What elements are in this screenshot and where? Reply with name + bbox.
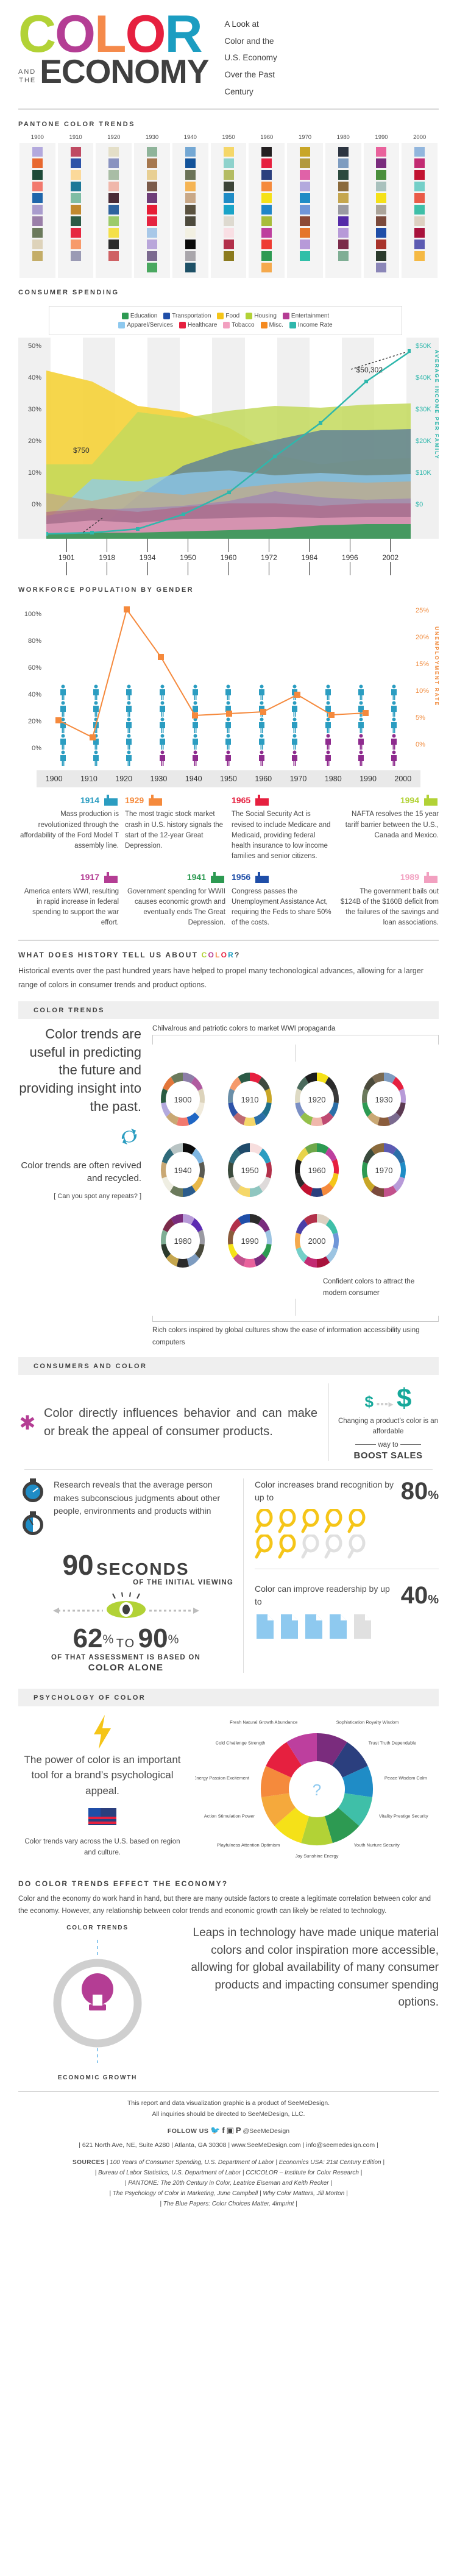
pantone-swatch [71,193,81,203]
color-wheel-grid: 1900 1910 1920 1930 1940 1950 1960 1970 … [152,1066,439,1274]
pantone-swatch [300,147,310,157]
pantone-column-1970 [287,143,323,278]
event-head: 1914 [18,793,119,807]
pantone-swatch [185,263,196,272]
effect-label-top: COLOR TRENDS [18,1925,177,1931]
consumers-top: Color directly influences behavior and c… [18,1383,439,1461]
pantone-swatch [376,251,386,261]
and-the-label: AND THE [18,68,40,88]
pantone-swatch [414,193,425,203]
pantone-swatch [71,240,81,249]
color-wheel-label: 1910 [233,1081,267,1118]
color-wheel-1990: 1990 [219,1208,280,1274]
logo-letter-2: L [94,11,126,58]
event-head: 1989 [338,871,439,884]
stat-initial-viewing: OF THE INITIAL VIEWING [18,1579,233,1586]
pantone-swatch [32,182,43,191]
event-head: 1929 [125,793,225,807]
pantone-swatch [108,147,119,157]
pantone-swatch [71,182,81,191]
pantone-swatch [71,147,81,157]
source-line-2: | PANTONE: The 20th Century in Color, Le… [24,2178,433,2188]
legend-label: Housing [254,313,277,319]
pantone-swatch [32,147,43,157]
bus-icon [163,313,170,319]
workforce-section: WORKFORCE POPULATION BY GENDER 100%80%60… [0,575,457,787]
color-wheel-label: 1960 [300,1152,334,1188]
wf-y-tick-right: 15% [416,661,429,668]
pantone-year-2000: 2000 [400,134,439,143]
event-card: 1956 Congress passes the Unemployment As… [232,871,332,929]
hanger-icon [118,322,125,328]
pantone-swatch [224,158,234,168]
pantone-swatch [376,182,386,191]
color-wheel-1930: 1930 [353,1066,414,1132]
spending-year-1996: 1996 [330,553,370,562]
color-trends-subline: Color trends are often revived and recyc… [18,1159,141,1186]
pantone-swatch [224,251,234,261]
brand-readership-block: Color increases brand recognition by up … [244,1478,439,1673]
consumers-band: CONSUMERS AND COLOR [18,1357,439,1375]
y-tick-left: 10% [28,469,41,477]
psychology-band: PSYCHOLOGY OF COLOR [18,1689,439,1706]
wf-y-tick-right: 25% [416,607,429,614]
pantone-year-1990: 1990 [363,134,401,143]
pantone-swatch [338,158,349,168]
event-year: 1917 [80,871,99,884]
color-wheel-1910: 1910 [219,1066,280,1132]
wf-y-tick-right: 10% [416,687,429,695]
pantone-swatch [376,263,386,272]
tick [289,562,330,575]
tick [168,539,208,552]
pantone-swatch [71,228,81,238]
wf-y-tick-right: 5% [416,714,425,722]
pantone-swatch [338,251,349,261]
logo-letter-0: C [18,11,55,58]
events-row-2: 1917 America enters WWI, resulting in ra… [18,871,439,929]
pantone-swatch [32,216,43,226]
pantone-swatch [338,216,349,226]
speech-bubbles-icon [423,793,439,807]
workforce-decade-2000: 2000 [386,775,420,783]
event-card: 1989 The government bails out $124B of t… [338,871,439,929]
pantone-swatch [71,158,81,168]
subtitle-line-4: Century [224,83,439,101]
wf-y-tick-right: 20% [416,634,429,641]
wf-y-tick-left: 20% [28,718,41,725]
the-label: THE [18,77,36,85]
stat-90: 90 [62,1549,93,1581]
color-wheel-label: 1950 [233,1152,267,1188]
pantone-swatch [300,240,310,249]
legend-label: Healthcare [188,322,217,328]
pinterest-icon[interactable]: P [236,2126,241,2135]
pantone-swatch [32,158,43,168]
pantone-year-1910: 1910 [57,134,95,143]
pantone-swatch [147,193,157,203]
pantone-swatch [300,170,310,180]
legend-item: Income Rate [289,322,333,328]
stopwatch-icons [18,1478,48,1549]
color-trends-title: COLOR TRENDS [34,1001,439,1019]
boost-sub: Changing a product’s color is an afforda… [338,1416,439,1438]
pantone-swatch [32,193,43,203]
event-year: 1989 [400,871,419,884]
event-head: 1956 [232,871,332,884]
pantone-swatch [224,193,234,203]
event-head: 1965 [232,793,332,807]
psychology-title: PSYCHOLOGY OF COLOR [34,1689,439,1706]
event-text: America enters WWI, resulting in rapid i… [18,887,119,929]
pantone-swatch [71,251,81,261]
pantone-swatch [32,170,43,180]
legend-item: Misc. [261,322,283,328]
wf-y-tick-right: 0% [416,741,425,748]
pantone-swatch [224,170,234,180]
magnifier-icon [324,1535,345,1559]
pantone-swatch [376,147,386,157]
read-pct: 40% [401,1583,439,1608]
pantone-swatch [261,205,272,215]
spending-year-1934: 1934 [127,553,168,562]
event-card: 1929 The most tragic stock market crash … [125,793,225,862]
pantone-column-1920 [96,143,132,278]
source-line-0: | 100 Years of Consumer Spending, U.S. D… [107,2159,384,2166]
pantone-swatch [300,158,310,168]
pantone-swatch [376,216,386,226]
logo-letter-1: O [55,11,94,58]
subtitle-line-3: Over the Past [224,66,439,83]
tick [370,562,411,575]
dollar-growth-icon: $ ▪▪▪▸ $ [338,1383,439,1414]
income-2002-annotation: $50,302 [356,366,383,374]
pantone-swatch [338,182,349,191]
wf-y-tick-left: 0% [32,745,41,752]
psychology-label-0: Sophistication Royalty Wisdom [336,1719,399,1725]
eye-icon [47,1592,205,1619]
color-trends-left: Color trends are useful in predicting th… [18,1025,152,1349]
workforce-chart: 100%80%60%40%20%0% 25%20%15%10%5%0% UNEM… [18,602,439,767]
pantone-swatch [71,216,81,226]
pantone-swatch [108,158,119,168]
pantone-column-1980 [325,143,361,278]
piggy-bank-icon [423,871,439,884]
consumers-title: CONSUMERS AND COLOR [34,1357,439,1375]
color-trends-right: Chilvalrous and patriotic colors to mark… [152,1025,439,1349]
pantone-swatch [300,251,310,261]
color-wheel-label: 1990 [233,1222,267,1259]
legend-item: Entertainment [283,313,329,319]
stat-assessment: OF THAT ASSESSMENT IS BASED ON [18,1654,233,1661]
event-head: 1941 [125,871,225,884]
stat-62: 62 [73,1623,103,1653]
tick [330,539,370,552]
legend-label: Education [130,313,157,319]
spending-area-chart: 50%40%30%20%10%0% $50K$40K$30K$20K$10K$0… [18,338,439,539]
psychology-color-wheel: ? Sophistication Royalty WisdomTrust Tru… [195,1715,439,1867]
pantone-swatch [414,228,425,238]
effect-section: DO COLOR TRENDS EFFECT THE ECONOMY? Colo… [0,1879,457,2081]
pantone-year-1980: 1980 [324,134,363,143]
workforce-decade-labels: 1900191019201930194019501960197019801990… [37,770,420,787]
history-section: WHAT DOES HISTORY TELL US ABOUT COLOR? H… [0,951,457,993]
magnifier-icon [255,1535,275,1559]
pantone-swatch [300,205,310,215]
pantone-year-1900: 1900 [18,134,57,143]
pantone-section: PANTONE COLOR TRENDS 1900191019201930194… [0,110,457,278]
pantone-swatch [108,182,119,191]
document-icon [303,1613,324,1640]
pantone-swatch [338,205,349,215]
pantone-column-1930 [134,143,170,278]
subtitle-line-1: Color and the [224,33,439,50]
tick [46,539,87,552]
pantone-swatch [414,240,425,249]
history-body: Historical events over the past hundred … [18,964,439,993]
magnifier-icon [347,1509,368,1533]
event-card: 1941 Government spending for WWII causes… [125,871,225,929]
consumers-quote: Color directly influences behavior and c… [44,1404,317,1441]
facebook-icon[interactable]: f [222,2126,224,2135]
pantone-year-1930: 1930 [133,134,171,143]
pantone-swatch [376,205,386,215]
psychology-label-4: Youth Nurture Security [354,1842,400,1848]
pantone-swatch [108,170,119,180]
pantone-swatch [376,170,386,180]
color-wheel-label: 1980 [166,1222,200,1259]
stat-90b-pct: % [168,1633,179,1647]
pantone-column-1960 [249,143,285,278]
money-bag-icon [254,871,270,884]
y-tick-left: 0% [32,501,41,508]
stat-90b: 90 [138,1623,168,1653]
color-wheel-2000: 2000 [286,1208,347,1274]
pantone-swatch [376,193,386,203]
recycle-icon [18,1127,141,1149]
pantone-swatch [32,240,43,249]
y-tick-left: 40% [28,374,41,381]
event-text: Congress passes the Unemployment Assista… [232,887,332,929]
color-wheel-1940: 1940 [152,1137,213,1203]
legend-item: Transportation [163,313,211,319]
psychology-label-7: Action Stimulation Power [204,1813,255,1818]
workforce-decade-1940: 1940 [176,775,211,783]
pantone-swatch [414,182,425,191]
pantone-swatch [32,228,43,238]
logo-letter-4: R [165,11,201,58]
header: COLOR AND THE ECONOMY A Look atColor and… [0,0,457,100]
pantone-swatch [185,193,196,203]
footer-line-2: All inquiries should be directed to SeeM… [24,2109,433,2120]
color-trends-caption-right: Confident colors to attract the modern c… [323,1276,439,1299]
legend-label: Misc. [269,322,283,328]
tick [87,539,127,552]
legend-item: Housing [246,313,277,319]
psychology-section: The power of color is an important tool … [18,1715,439,1867]
workforce-decade-1930: 1930 [141,775,176,783]
pantone-swatch [147,170,157,180]
events-row-1: 1914 Mass production is revolutionized t… [18,793,439,862]
spending-year-labels: 190119181934195019601972198419962002 [46,553,411,562]
pantone-swatch [185,158,196,168]
consumer-spending-title: CONSUMER SPENDING [18,278,439,302]
tick [87,562,127,575]
y-tick-right: $50K [416,342,431,350]
lightning-icon [18,1715,186,1752]
psychology-label-10: Fresh Natural Growth Abundance [230,1719,297,1725]
pantone-year-1950: 1950 [210,134,248,143]
pantone-swatch [261,228,272,238]
chart-down-icon [147,793,163,807]
readership-text: Color can improve readership by up to [255,1583,397,1608]
document-icon [279,1613,300,1640]
event-text: The government bails out $124B of the $1… [338,887,439,929]
pantone-swatch [147,228,157,238]
pantone-swatch [376,228,386,238]
pantone-swatch [147,251,157,261]
pantone-year-1970: 1970 [286,134,324,143]
legend-item: Tobacco [223,322,254,328]
pantone-swatch [224,205,234,215]
house-icon [246,313,252,319]
pantone-swatch [338,170,349,180]
event-head: 1994 [338,793,439,807]
pantone-swatch [261,182,272,191]
psychology-label-2: Peace Wisdom Calm [384,1775,427,1781]
consumer-spending-section: CONSUMER SPENDING EducationTransportatio… [0,278,457,575]
boost-sales-label: BOOST SALES [338,1450,439,1461]
psychology-label-1: Trust Truth Dependable [369,1740,417,1746]
color-wheel-1920: 1920 [286,1066,347,1132]
pantone-year-labels: 1900191019201930194019501960197019801990… [18,134,439,143]
consumers-bottom: Research reveals that the average person… [18,1478,439,1673]
cross-icon [179,322,186,328]
tick [127,562,168,575]
event-year: 1929 [125,794,144,807]
tick [168,562,208,575]
y-tick-right: $20K [416,438,431,445]
sources-label: SOURCES [73,2159,105,2166]
color-wheel-1960: 1960 [286,1137,347,1203]
history-title-color-word: COLOR [202,951,235,959]
pantone-swatch [147,147,157,157]
y-tick-right: $30K [416,406,431,413]
workforce-decade-1990: 1990 [350,775,385,783]
color-trends-aside: [ Can you spot any repeats? ] [18,1193,141,1200]
spending-year-2002: 2002 [370,553,411,562]
cigarette-icon [223,322,230,328]
pantone-swatch [185,147,196,157]
tick [208,539,249,552]
pantone-swatch [185,205,196,215]
color-wheel-1900: 1900 [152,1066,213,1132]
ninety-seconds-block: Research reveals that the average person… [18,1478,244,1673]
color-wheel-label: 1930 [367,1081,401,1118]
pantone-swatch [414,158,425,168]
workforce-title: WORKFORCE POPULATION BY GENDER [18,575,439,600]
pantone-swatch [224,240,234,249]
document-icon [328,1613,349,1640]
pantone-swatch [300,216,310,226]
event-card: 1994 NAFTA resolves the 15 year tariff b… [338,793,439,862]
workforce-decade-1960: 1960 [246,775,281,783]
tick [46,562,87,575]
wf-y-tick-left: 80% [28,637,41,645]
magnifier-icon [301,1509,322,1533]
workforce-right-axis-label: UNEMPLOYMENT RATE [434,626,440,706]
footer-sources: SOURCES | 100 Years of Consumer Spending… [24,2157,433,2209]
pantone-swatch [261,193,272,203]
pantone-swatch [224,147,234,157]
event-year: 1994 [400,794,419,807]
money-icon [210,871,225,884]
color-economy-loop-icon [37,1931,158,2071]
psychology-right: ? Sophistication Royalty WisdomTrust Tru… [195,1715,439,1867]
pantone-swatch [414,147,425,157]
pantone-column-1940 [172,143,208,278]
spending-right-axis-label: AVERAGE INCOME PER FAMILY [434,350,440,459]
event-year: 1941 [187,871,206,884]
effect-diagram-row: COLOR TRENDS ECONOMIC GROWTH Leaps in te… [18,1925,439,2081]
color-trends-band: COLOR TRENDS [18,1001,439,1019]
pantone-swatch [376,240,386,249]
source-line-4: | The Blue Papers: Color Choices Matter,… [24,2199,433,2209]
pantone-swatch [71,170,81,180]
pantone-swatch [108,216,119,226]
pantone-swatch [108,193,119,203]
psychology-label-6: Playfulness Attention Optimism [217,1842,280,1848]
history-title: WHAT DOES HISTORY TELL US ABOUT COLOR? [18,951,439,959]
pantone-swatch [71,205,81,215]
pantone-swatch [185,240,196,249]
spending-tick-row-top [46,539,411,552]
pantone-swatch [300,193,310,203]
footer-contact[interactable]: | 621 North Ave, NE, Suite A280 | Atlant… [24,2140,433,2151]
color-wheel-label: 1900 [166,1081,200,1118]
footer-line-1: This report and data visualization graph… [24,2098,433,2109]
event-card: 1917 America enters WWI, resulting in ra… [18,871,119,929]
legend-item: Apparel/Services [118,322,173,328]
legend-label: Apparel/Services [127,322,173,328]
logo-letter-3: O [126,11,165,58]
color-wheel-1980: 1980 [152,1208,213,1274]
pantone-swatch [338,240,349,249]
pantone-year-1960: 1960 [247,134,286,143]
subtitle-line-0: A Look at [224,16,439,33]
pantone-swatch [108,228,119,238]
color-trends-headline: Color trends are useful in predicting th… [18,1025,141,1115]
pantone-swatch [185,228,196,238]
pantone-swatch [147,182,157,191]
brand-pct: 80% [401,1479,439,1503]
instagram-icon[interactable]: ▣ [227,2126,234,2135]
legend-item: Healthcare [179,322,217,328]
workforce-decade-1950: 1950 [211,775,246,783]
twitter-icon[interactable]: 🐦 [210,2126,220,2135]
pantone-swatch [224,216,234,226]
pantone-swatch [261,158,272,168]
pantone-swatch [338,228,349,238]
document-pictogram [255,1613,439,1640]
source-line-1: | Bureau of Labor Statistics, U.S. Depar… [24,2168,433,2178]
consumers-quote-block: Color directly influences behavior and c… [18,1383,329,1461]
pantone-year-1940: 1940 [171,134,210,143]
workforce-decade-1920: 1920 [107,775,141,783]
legend-item: Food [217,313,239,319]
y-tick-right: $0 [416,501,423,508]
legend-label: Transportation [172,313,211,319]
